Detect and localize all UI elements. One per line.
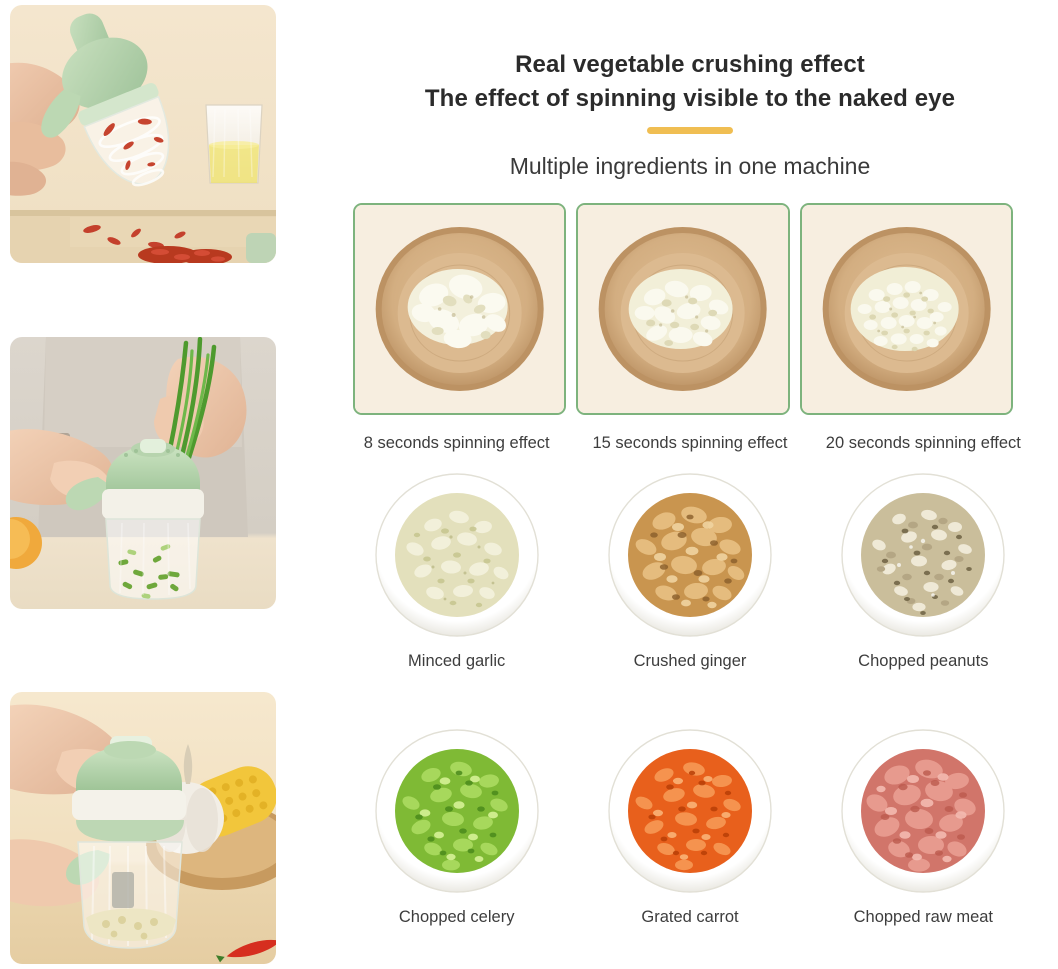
bowl-row-1: Minced garlic [340, 473, 1040, 671]
bowl-cell-crushed-ginger: Crushed ginger [573, 473, 806, 671]
content-column: Real vegetable crushing effect The effec… [340, 0, 1040, 969]
spinning-effect-panel-15s [576, 203, 789, 415]
bowl-grated-carrot-illustration [608, 729, 772, 893]
bowl-cell-chopped-peanuts: Chopped peanuts [807, 473, 1040, 671]
photo-3-illustration [10, 692, 276, 964]
bowl-cell-minced-garlic: Minced garlic [340, 473, 573, 671]
divider-wrapper [340, 121, 1040, 139]
bowl-chopped-raw-meat-illustration [841, 729, 1005, 893]
product-photo-column [10, 0, 276, 969]
bowl-crushed-ginger [608, 473, 772, 637]
caption-15-seconds: 15 seconds spinning effect [573, 434, 806, 453]
bowl-label-chopped-raw-meat: Chopped raw meat [854, 908, 993, 927]
headline-line-2: The effect of spinning visible to the na… [340, 84, 1040, 114]
spinning-effect-captions: 8 seconds spinning effect 15 seconds spi… [340, 434, 1040, 453]
bowl-crushed-ginger-illustration [608, 473, 772, 637]
caption-20-seconds: 20 seconds spinning effect [807, 434, 1040, 453]
subheadline: Multiple ingredients in one machine [340, 153, 1040, 180]
bowl-cell-chopped-raw-meat: Chopped raw meat [807, 729, 1040, 927]
bowl-cell-grated-carrot: Grated carrot [573, 729, 806, 927]
bowl-minced-garlic [375, 473, 539, 637]
spinning-effect-panel-8s [353, 203, 566, 415]
bowl-label-grated-carrot: Grated carrot [641, 908, 738, 927]
ingredient-bowl-grid: Minced garlic [340, 473, 1040, 927]
spinning-effect-panel-20s [800, 203, 1013, 415]
wooden-plate-fine-garlic [802, 205, 1011, 413]
bowl-label-minced-garlic: Minced garlic [408, 652, 505, 671]
photo-chopper-with-garlic-and-corn [10, 692, 276, 964]
photo-2-illustration [10, 337, 276, 609]
wooden-plate-coarse-garlic [355, 205, 564, 413]
bowl-chopped-celery [375, 729, 539, 893]
bowl-label-chopped-peanuts: Chopped peanuts [858, 652, 988, 671]
photo-1-illustration [10, 5, 276, 263]
bowl-chopped-peanuts [841, 473, 1005, 637]
photo-chopper-chopping-green-onions [10, 337, 276, 609]
bowl-label-chopped-celery: Chopped celery [399, 908, 515, 927]
photo-chopper-crushing-chili-peppers [10, 5, 276, 263]
bowl-chopped-raw-meat [841, 729, 1005, 893]
bowl-row-2: Chopped celery [340, 729, 1040, 927]
bowl-chopped-peanuts-illustration [841, 473, 1005, 637]
wooden-plate-medium-garlic [578, 205, 787, 413]
bowl-chopped-celery-illustration [375, 729, 539, 893]
yellow-divider-bar [647, 127, 733, 134]
bowl-label-crushed-ginger: Crushed ginger [634, 652, 747, 671]
headline-line-1: Real vegetable crushing effect [340, 50, 1040, 80]
caption-8-seconds: 8 seconds spinning effect [340, 434, 573, 453]
bowl-minced-garlic-illustration [375, 473, 539, 637]
bowl-grated-carrot [608, 729, 772, 893]
spinning-effect-panels [353, 203, 1013, 415]
bowl-cell-chopped-celery: Chopped celery [340, 729, 573, 927]
